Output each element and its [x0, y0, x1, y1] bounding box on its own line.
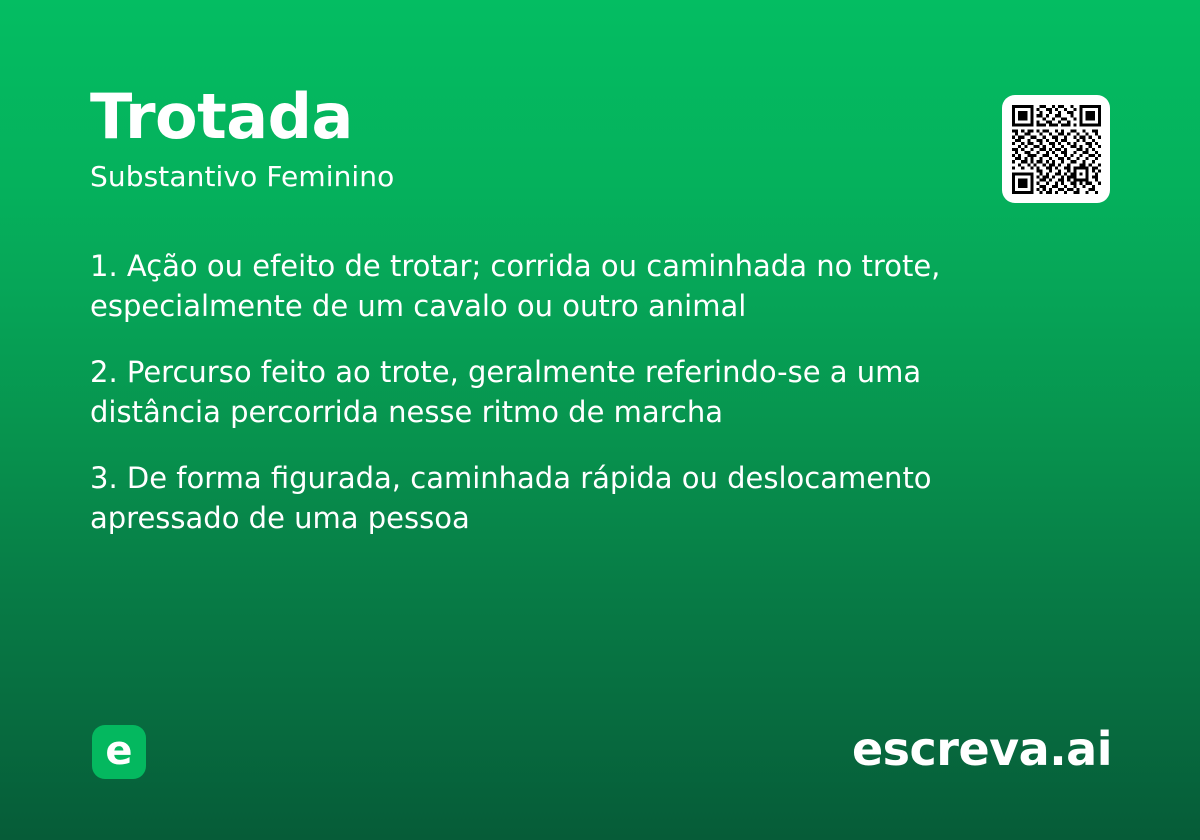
brand-wordmark: escreva.ai — [852, 722, 1112, 777]
definition-list: 1. Ação ou efeito de trotar; corrida ou … — [90, 246, 1020, 538]
definition-item: 1. Ação ou efeito de trotar; corrida ou … — [90, 246, 1020, 326]
dictionary-card: Trotada Substantivo Feminino — [0, 0, 1200, 840]
word-title: Trotada — [90, 84, 950, 150]
definition-item: 3. De forma figurada, caminhada rápida o… — [90, 458, 1020, 538]
word-class-label: Substantivo Feminino — [90, 160, 950, 194]
brand-logo-icon: e — [92, 725, 146, 779]
brand-logo-letter: e — [105, 731, 132, 771]
qr-code-icon — [1012, 105, 1101, 194]
definition-item: 2. Percurso feito ao trote, geralmente r… — [90, 352, 1020, 432]
qr-code-container[interactable] — [1002, 95, 1110, 203]
card-header: Trotada Substantivo Feminino — [90, 84, 950, 193]
